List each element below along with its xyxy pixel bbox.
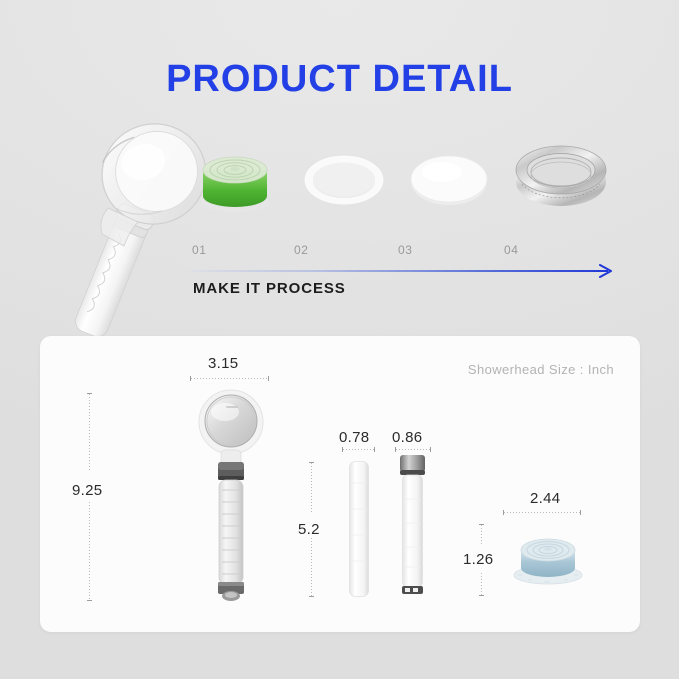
size-card: Showerhead Size : Inch <box>40 336 640 632</box>
cartridge-b-image <box>399 455 426 597</box>
size-card-note: Showerhead Size : Inch <box>468 362 614 377</box>
page-title: PRODUCT DETAIL <box>0 58 679 101</box>
dimension-line-2-44 <box>503 512 581 513</box>
step-number-04: 04 <box>504 243 519 257</box>
showerhead-dimension-image <box>198 388 264 602</box>
step-number-03: 03 <box>398 243 413 257</box>
process-heading: MAKE IT PROCESS <box>193 280 346 297</box>
dimension-label-disc-width: 2.44 <box>530 490 560 507</box>
dimension-label-cartridge-b-width: 0.86 <box>392 429 422 446</box>
process-step-numbers: 01 02 03 04 <box>180 243 640 263</box>
part-01-green-filter <box>196 140 274 216</box>
part-04-chrome-ring <box>510 140 612 218</box>
filter-disc-image <box>512 528 584 586</box>
process-arrow-line <box>190 270 608 272</box>
right-arrow-icon <box>599 264 615 278</box>
step-number-01: 01 <box>192 243 207 257</box>
dimension-label-length: 9.25 <box>72 482 102 499</box>
step-number-02: 02 <box>294 243 309 257</box>
dimension-label-disc-height: 1.26 <box>463 551 493 568</box>
dimension-label-cartridge-a-width: 0.78 <box>339 429 369 446</box>
cartridge-a-image <box>349 461 369 597</box>
part-03-white-disc <box>408 152 490 208</box>
dimension-line-0-86 <box>395 449 431 450</box>
dimension-line-0-78 <box>342 449 375 450</box>
process-arrow <box>190 264 620 278</box>
product-detail-page: PRODUCT DETAIL <box>0 0 679 679</box>
dimension-label-width: 3.15 <box>208 355 238 372</box>
dimension-line-3-15 <box>190 378 269 379</box>
dimension-label-cartridge-length: 5.2 <box>298 521 320 538</box>
part-02-white-o-ring <box>302 152 386 208</box>
process-parts-row <box>180 130 640 235</box>
